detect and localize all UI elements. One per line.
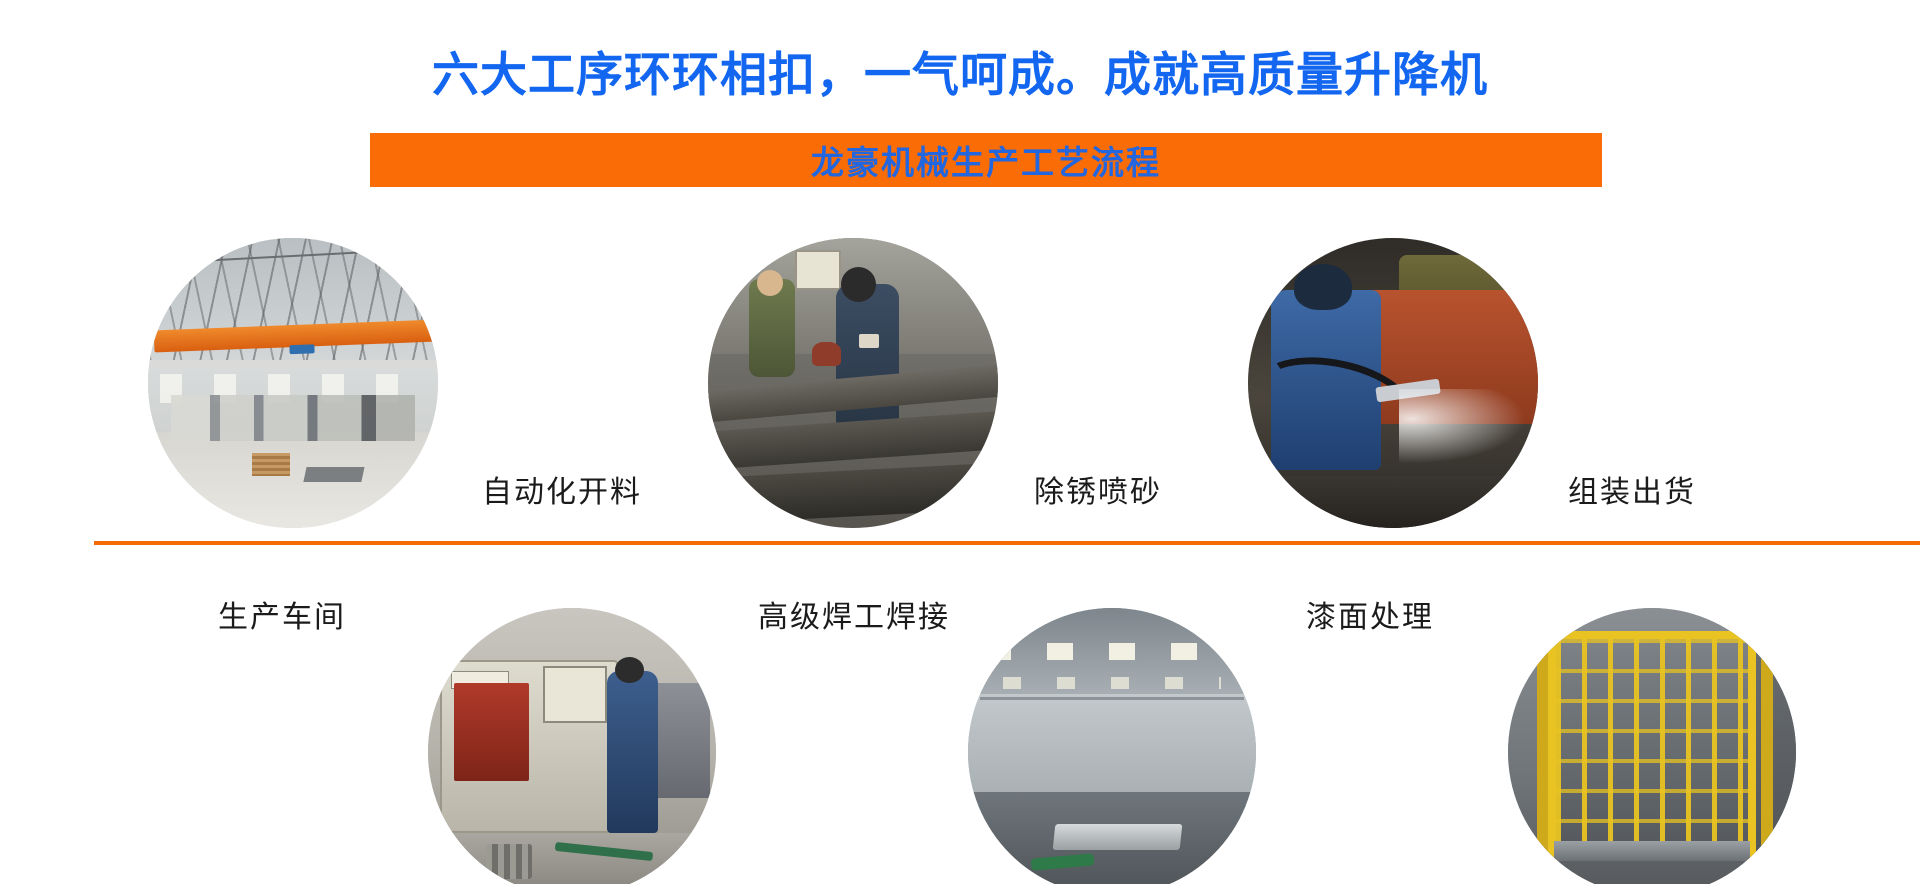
step-label-sandblasting: 除锈喷砂 bbox=[1034, 467, 1162, 511]
senior-welding-photo bbox=[708, 238, 998, 528]
section-divider bbox=[94, 541, 1920, 545]
step-label-senior-welding: 高级焊工焊接 bbox=[758, 592, 950, 636]
section-banner-label: 龙豪机械生产工艺流程 bbox=[811, 136, 1161, 184]
page-title: 六大工序环环相扣，一气呵成。成就高质量升降机 bbox=[0, 46, 1920, 105]
step-label-paint-finishing: 漆面处理 bbox=[1306, 592, 1434, 636]
step-label-assembly-shipping: 组装出货 bbox=[1568, 467, 1696, 511]
factory-workshop-photo bbox=[148, 238, 438, 528]
step-label-factory-workshop: 生产车间 bbox=[218, 592, 346, 636]
paint-finishing-photo bbox=[968, 608, 1256, 884]
step-label-automatic-cutting: 自动化开料 bbox=[482, 467, 642, 511]
assembly-shipping-photo bbox=[1508, 608, 1796, 884]
section-banner: 龙豪机械生产工艺流程 bbox=[370, 133, 1602, 187]
sandblasting-photo bbox=[1248, 238, 1538, 528]
process-flow-page: 六大工序环环相扣，一气呵成。成就高质量升降机 龙豪机械生产工艺流程 自动化开料 … bbox=[0, 0, 1920, 884]
automatic-cutting-photo bbox=[428, 608, 716, 884]
